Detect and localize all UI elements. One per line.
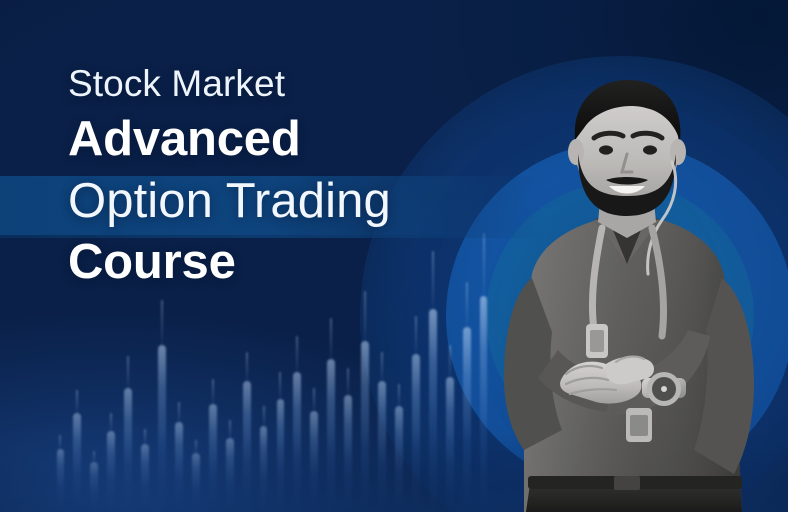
course-promo-banner: Stock Market Advanced Option Trading Cou… xyxy=(0,0,788,512)
instructor-photo xyxy=(466,78,788,512)
